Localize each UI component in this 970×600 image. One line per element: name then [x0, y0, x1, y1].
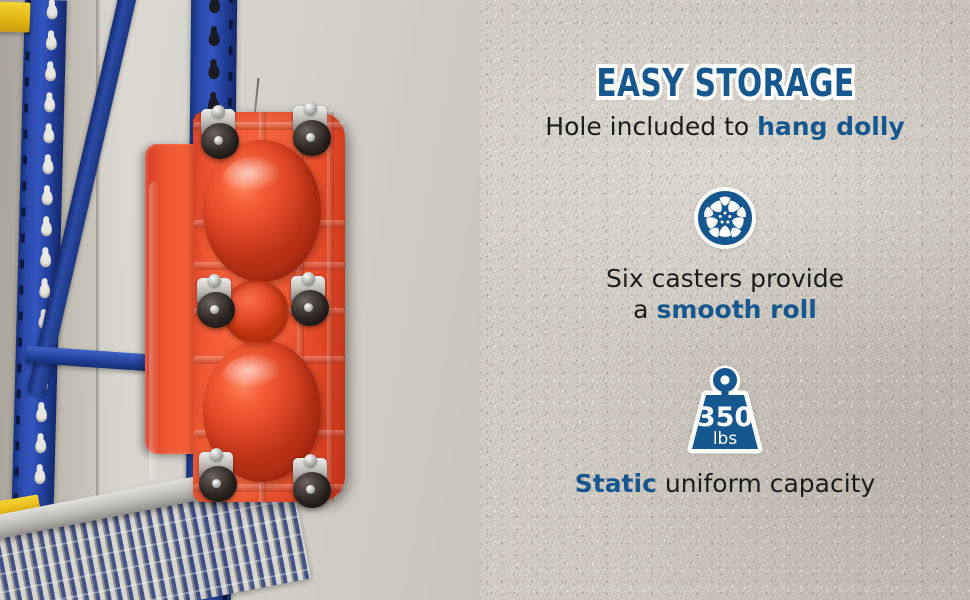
dolly-plate-highlight	[149, 182, 159, 480]
rack-hole	[43, 128, 54, 143]
rack-hole	[208, 31, 219, 46]
caster-bottom-left	[193, 452, 245, 502]
caster-middle-left	[191, 278, 243, 328]
subtitle-plain-text: Hole included to	[545, 112, 757, 141]
caster-hub	[304, 303, 313, 312]
rack-hole	[208, 64, 219, 79]
caster-top-right	[287, 106, 339, 156]
rack-hole	[41, 190, 52, 205]
caster-caption-line2: a smooth roll	[606, 295, 844, 326]
feature-capacity: 350 lbs Static uniform capacity	[575, 365, 876, 500]
caster-caption: Six casters provide a smooth roll	[606, 264, 844, 325]
rack-beam-yellow-top	[0, 1, 31, 32]
caster-top-left	[195, 109, 247, 159]
rack-hole	[44, 97, 55, 112]
weight-unit-text: lbs	[713, 429, 738, 449]
caster-bottom-right	[287, 458, 339, 508]
caster-bolt	[302, 272, 315, 285]
red-dolly	[145, 112, 345, 502]
caster-bolt	[304, 454, 317, 467]
caster-hub	[210, 305, 219, 314]
product-photo	[0, 0, 480, 600]
caster-caption-line1: Six casters provide	[606, 264, 844, 295]
caster-wheel-icon	[693, 186, 757, 250]
caster-bolt	[208, 274, 221, 287]
rack-hole	[209, 0, 220, 13]
rack-hole	[40, 221, 51, 236]
subtitle-highlight-text: hang dolly	[757, 112, 905, 141]
dolly-dome-gloss	[221, 354, 291, 408]
caster-hub	[212, 479, 221, 488]
rack-hole	[42, 159, 53, 174]
rack-hole	[45, 35, 56, 50]
caster-bolt	[304, 102, 317, 115]
rack-hole	[39, 252, 50, 267]
caster-middle-right	[285, 276, 337, 326]
dolly-dome-gloss	[221, 156, 291, 212]
caster-caption-plain: a	[633, 295, 656, 324]
capacity-caption: Static uniform capacity	[575, 469, 876, 500]
caster-bolt	[210, 448, 223, 461]
caster-caption-highlight: smooth roll	[656, 295, 816, 324]
infographic-banner: EASY STORAGE Hole included to hang dolly	[0, 0, 970, 600]
info-panel: EASY STORAGE Hole included to hang dolly	[480, 0, 970, 600]
caster-hub	[306, 133, 315, 142]
caster-hub	[306, 485, 315, 494]
rack-hole	[46, 4, 57, 19]
caster-hub	[214, 136, 223, 145]
feature-casters: Six casters provide a smooth roll	[606, 186, 844, 325]
subtitle: Hole included to hang dolly	[545, 112, 904, 142]
capacity-caption-plain: uniform capacity	[657, 469, 875, 498]
weight-350lbs-icon: 350 lbs	[676, 365, 774, 457]
rack-hole	[35, 407, 46, 422]
rack-hole	[35, 438, 46, 453]
dolly-dome-top	[203, 140, 321, 282]
rack-hole	[44, 66, 55, 81]
page-title: EASY STORAGE	[596, 64, 854, 102]
rack-hole	[34, 469, 45, 484]
caster-bolt	[212, 105, 225, 118]
capacity-caption-highlight: Static	[575, 469, 657, 498]
